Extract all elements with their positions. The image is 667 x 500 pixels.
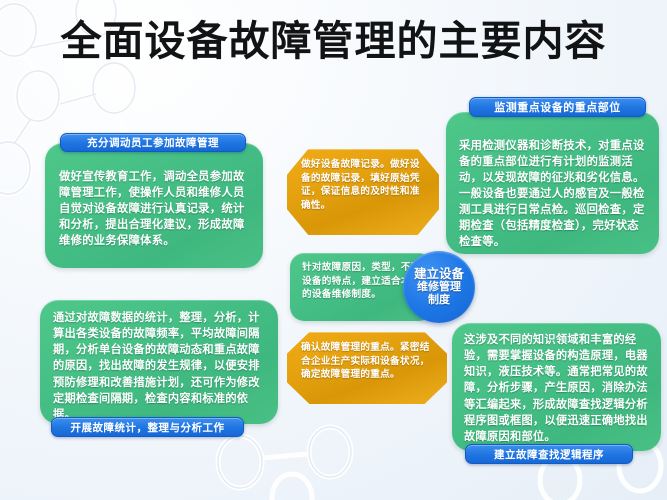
label-top-right[interactable]: 监测重点设备的重点部位 xyxy=(469,97,646,117)
card-bottom-right-body: 这涉及不同的知识领域和丰富的经验，需要掌握设备的构造原理，电器知识，液压技术等。… xyxy=(464,332,651,445)
center-circle-badge[interactable]: 建立设备 维修管理 制度 xyxy=(403,251,475,323)
center-circle-line1: 建立设备 xyxy=(414,267,464,282)
card-center-orange-top: 做好设备故障记录。做好设备的故障记录，填好原始凭证，保证信息的及时性和准确性。 xyxy=(287,149,439,235)
card-bottom-right: 这涉及不同的知识领域和丰富的经验，需要掌握设备的构造原理，电器知识，液压技术等。… xyxy=(452,323,661,451)
label-bottom-left[interactable]: 开展故障统计，整理与分析工作 xyxy=(51,417,244,437)
page-title: 全面设备故障管理的主要内容 xyxy=(0,18,667,65)
card-top-right: 采用检测仪器和诊断技术，对重点设备的重点部位进行有计划的监测活动，以发现故障的征… xyxy=(446,112,659,254)
slide-canvas: 全面设备故障管理的主要内容 做好宣传教育工作，调动全员参加故障管理工作，使操作人… xyxy=(0,0,667,500)
card-top-left-body: 做好宣传教育工作，调动全员参加故障管理工作，使操作人员和维修人员自觉对设备故障进… xyxy=(59,169,251,249)
card-center-orange-bottom: 确认故障管理的重点。紧密结合企业生产实际和设备状况，确定故障管理的重点。 xyxy=(287,332,447,404)
center-circle-line2: 维修管理 xyxy=(417,281,461,294)
label-bottom-right[interactable]: 建立故障查找逻辑程序 xyxy=(465,444,633,464)
card-bottom-left-body: 通过对故障数据的统计，整理，分析，计算出各类设备的故障频率，平均故障间隔期，分析… xyxy=(53,310,267,423)
card-top-left: 做好宣传教育工作，调动全员参加故障管理工作，使操作人员和维修人员自觉对设备故障进… xyxy=(45,143,263,268)
center-circle-line3: 制度 xyxy=(428,294,450,307)
label-top-left[interactable]: 充分调动员工参加故障管理 xyxy=(60,133,246,152)
card-bottom-left: 通过对故障数据的统计，整理，分析，计算出各类设备的故障频率，平均故障间隔期，分析… xyxy=(40,300,278,424)
card-center-orange-top-body: 做好设备故障记录。做好设备的故障记录，填好原始凭证，保证信息的及时性和准确性。 xyxy=(301,158,429,212)
card-center-orange-bottom-body: 确认故障管理的重点。紧密结合企业生产实际和设备状况，确定故障管理的重点。 xyxy=(301,341,437,382)
card-top-right-body: 采用检测仪器和诊断技术，对重点设备的重点部位进行有计划的监测活动，以发现故障的征… xyxy=(459,138,648,250)
